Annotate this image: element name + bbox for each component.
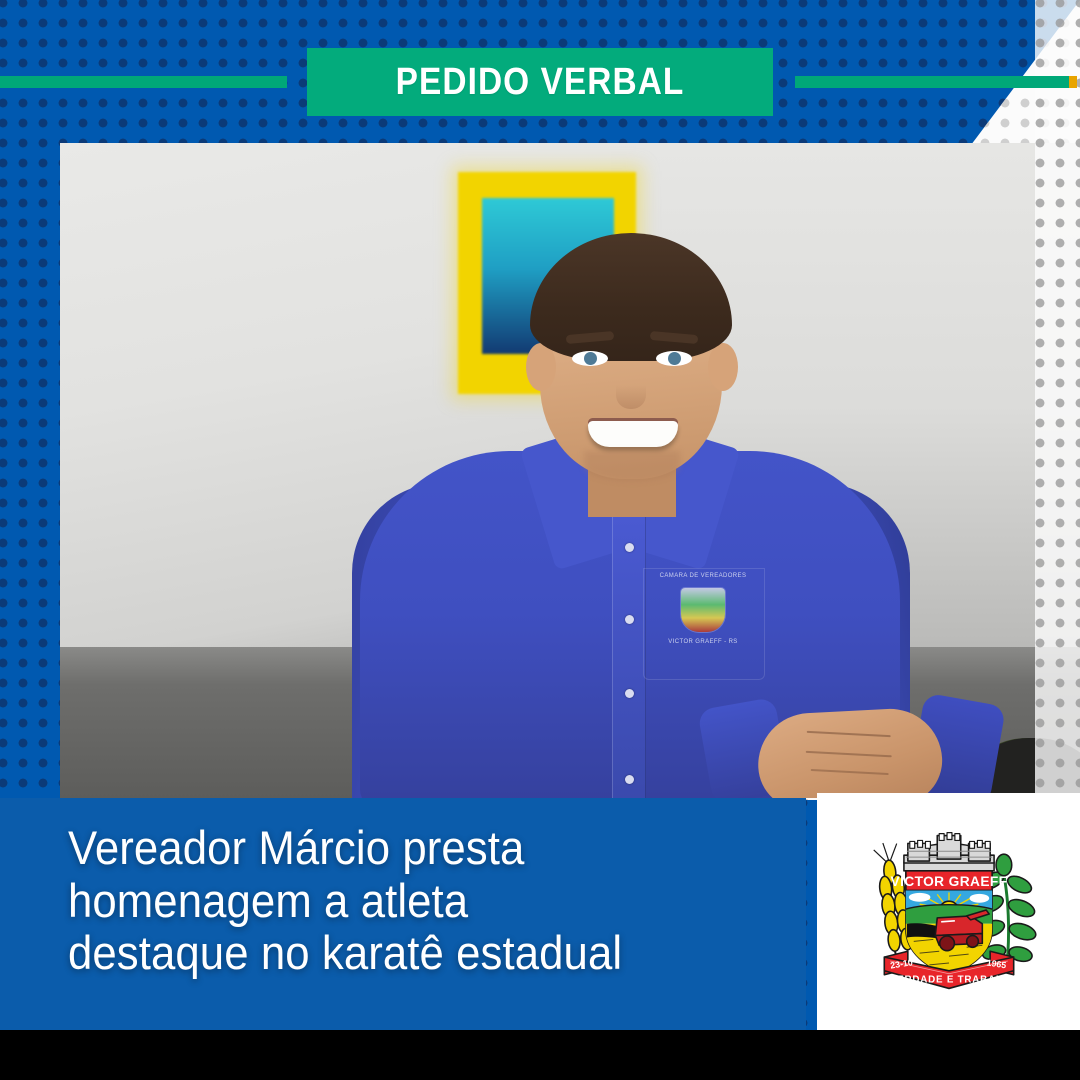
shirt-button [625, 689, 634, 698]
subject-photo: CÂMARA DE VEREADORES VICTOR GRAEFF - RS [60, 143, 1080, 798]
subject-smile [588, 421, 678, 447]
subject-shirt-placket [612, 513, 646, 798]
subject-nose [616, 369, 646, 409]
green-rule-left [0, 76, 287, 88]
subject-iris-right [668, 352, 681, 365]
green-rule-right [795, 76, 1073, 88]
bottom-black-bar [0, 1030, 1080, 1080]
hand-finger-line [806, 751, 892, 757]
hand-finger-line [811, 769, 889, 775]
svg-text:LIBERDADE E TRABALHO: LIBERDADE E TRABALHO [879, 974, 1019, 985]
subject-ear-right [708, 343, 738, 391]
category-label: PEDIDO VERBAL [396, 61, 685, 104]
shirt-button [625, 615, 634, 624]
subject-hair [530, 233, 732, 361]
shirt-button [625, 543, 634, 552]
shirt-emblem: CÂMARA DE VEREADORES VICTOR GRAEFF - RS [657, 573, 749, 653]
subject-iris-left [584, 352, 597, 365]
crest-box: VICTOR GRAEFF [817, 793, 1080, 1030]
hand-finger-line [807, 731, 891, 737]
coat-of-arms-icon: VICTOR GRAEFF [851, 814, 1047, 1010]
subject-chin [584, 451, 680, 481]
svg-text:VICTOR GRAEFF: VICTOR GRAEFF [890, 874, 1007, 889]
category-banner: PEDIDO VERBAL [307, 48, 773, 116]
shirt-emblem-line2: VICTOR GRAEFF - RS [657, 639, 749, 645]
shirt-emblem-line1: CÂMARA DE VEREADORES [657, 573, 749, 579]
shirt-button [625, 775, 634, 784]
photo-subject: CÂMARA DE VEREADORES VICTOR GRAEFF - RS [360, 183, 900, 798]
social-media-poster: CÂMARA DE VEREADORES VICTOR GRAEFF - RS [0, 0, 1080, 1080]
yellow-rule-tip [1069, 76, 1077, 88]
subject-clasped-hands [756, 706, 945, 798]
headline-text: Vereador Márcio presta homenagem a atlet… [68, 822, 738, 980]
shirt-emblem-shield [681, 588, 725, 632]
